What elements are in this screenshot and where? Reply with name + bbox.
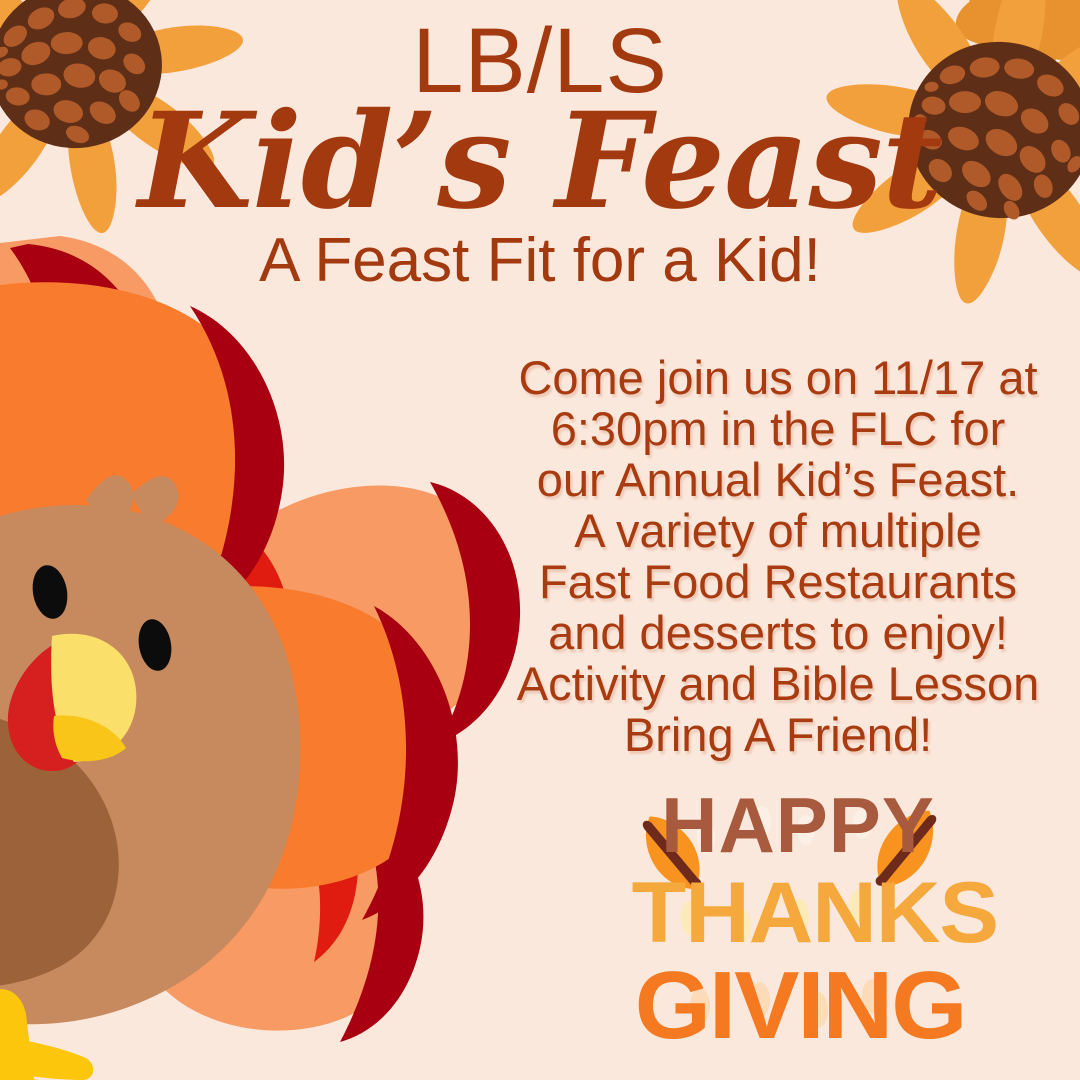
turkey-eye-left (29, 562, 72, 621)
event-details-text: Come join us on 11/17 at 6:30pm in the F… (498, 352, 1058, 760)
event-details-line: our Annual Kid’s Feast. (498, 454, 1058, 505)
turkey-eye-right (135, 617, 176, 674)
turkey-beak (51, 634, 136, 762)
thanksgiving-event-flyer: LB/LS Kid’s Feast A Feast Fit for a Kid!… (0, 0, 1080, 1080)
event-details-line: Come join us on 11/17 at (498, 352, 1058, 403)
lockup-line-giving: GIVING (635, 958, 961, 1054)
turkey-illustration (0, 236, 520, 1080)
event-details-line: A variety of multiple (498, 505, 1058, 556)
turkey-wattle (8, 642, 99, 771)
turkey-feet (0, 989, 93, 1080)
turkey-feathers-front (0, 282, 458, 920)
headline-block: LB/LS Kid’s Feast A Feast Fit for a Kid! (0, 18, 1080, 292)
event-details-line: Fast Food Restaurants (498, 556, 1058, 607)
turkey-feathers-back (0, 236, 520, 1042)
event-details-line: and desserts to enjoy! (498, 607, 1058, 658)
page-title: Kid’s Feast (0, 99, 1080, 226)
event-details-line: Activity and Bible Lesson (498, 658, 1058, 709)
lockup-line-thanks: THANKS (632, 870, 965, 956)
event-details-line: 6:30pm in the FLC for (498, 403, 1058, 454)
event-details-line: Bring A Friend! (498, 709, 1058, 760)
happy-thanksgiving-lockup: HAPPY THANKS GIVING (638, 782, 958, 1072)
turkey-body (0, 505, 300, 1024)
turkey-feather-red-accents (0, 429, 358, 962)
page-subtitle: A Feast Fit for a Kid! (0, 230, 1080, 292)
turkey-wing (0, 707, 119, 988)
lockup-line-happy: HAPPY (638, 786, 958, 864)
